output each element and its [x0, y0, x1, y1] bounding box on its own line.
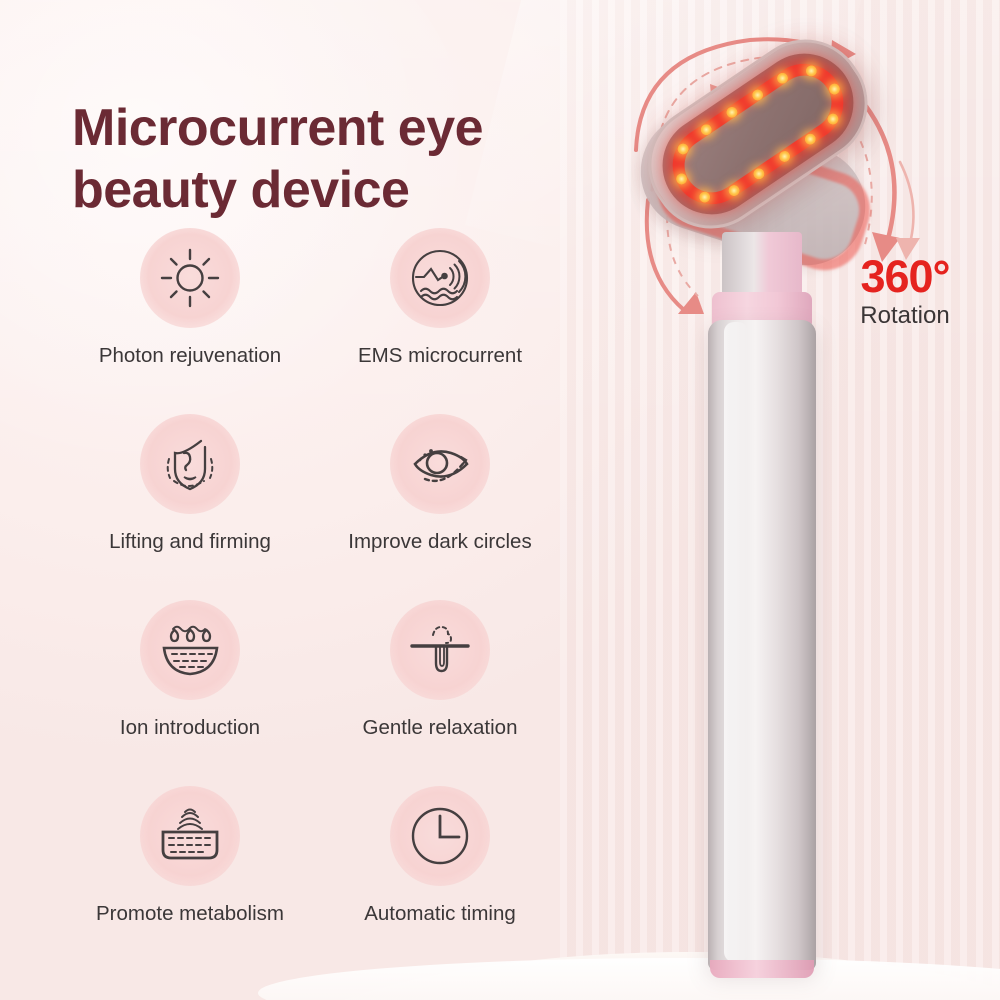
feature-label: EMS microcurrent	[358, 344, 522, 368]
skin-waves-icon	[140, 786, 240, 886]
feature-grid: Photon rejuvenation EMS microcurrent	[70, 228, 560, 972]
feature-item: Gentle relaxation	[320, 600, 560, 786]
feature-item: Photon rejuvenation	[70, 228, 310, 414]
eye-icon	[390, 414, 490, 514]
feature-label: Promote metabolism	[96, 902, 284, 926]
feature-item: Lifting and firming	[70, 414, 310, 600]
hair-follicle-icon	[390, 600, 490, 700]
face-lift-icon	[140, 414, 240, 514]
feature-label: Gentle relaxation	[363, 716, 518, 740]
feature-label: Automatic timing	[364, 902, 516, 926]
feature-label: Lifting and firming	[109, 530, 271, 554]
feature-label: Ion introduction	[120, 716, 260, 740]
sun-icon	[140, 228, 240, 328]
device-handle-highlight	[724, 322, 748, 962]
skin-droplets-icon	[140, 600, 240, 700]
rotation-value: 360°	[840, 253, 970, 301]
feature-item: Promote metabolism	[70, 786, 310, 972]
product-marketing-image: Microcurrent eye beauty device Photon re…	[0, 0, 1000, 1000]
feature-item: Automatic timing	[320, 786, 560, 972]
feature-label: Photon rejuvenation	[99, 344, 281, 368]
page-title: Microcurrent eye beauty device	[72, 97, 632, 221]
product-device: 360° Rotation	[600, 10, 1000, 1000]
feature-item: Ion introduction	[70, 600, 310, 786]
rotation-callout: 360° Rotation	[840, 253, 970, 331]
clock-icon	[390, 786, 490, 886]
rotation-caption: Rotation	[840, 301, 970, 331]
device-foot	[710, 960, 814, 978]
feature-item: Improve dark circles	[320, 414, 560, 600]
ems-wave-icon	[390, 228, 490, 328]
feature-label: Improve dark circles	[348, 530, 531, 554]
feature-item: EMS microcurrent	[320, 228, 560, 414]
